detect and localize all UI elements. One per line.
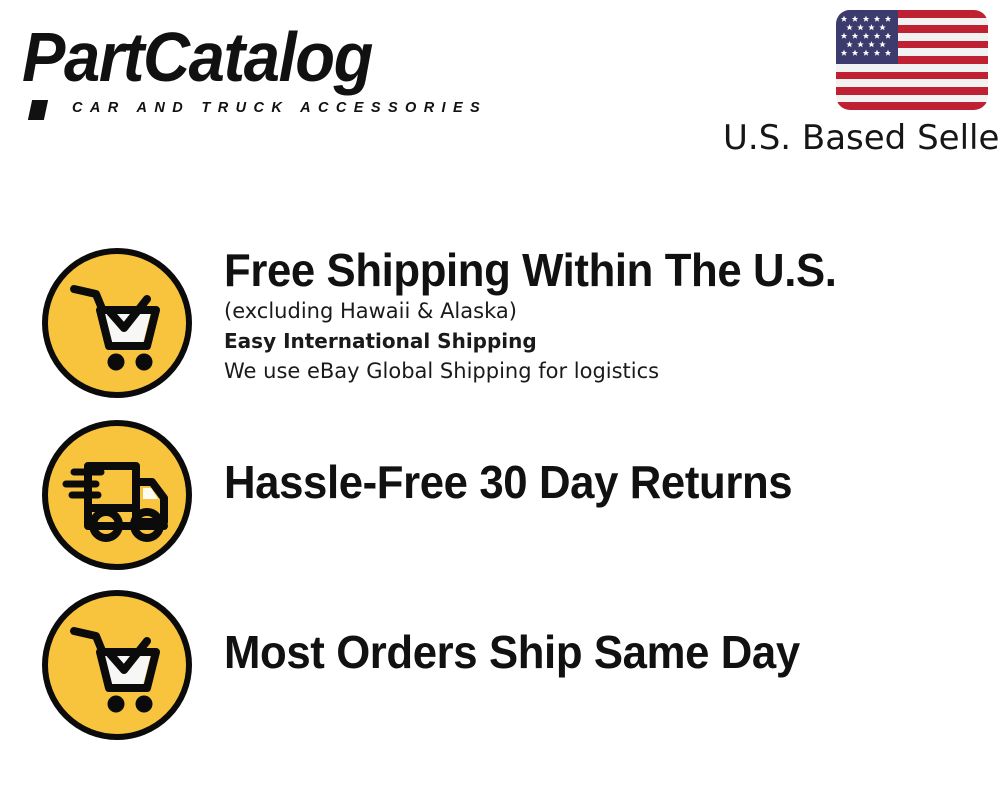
flag-stripe bbox=[836, 72, 988, 80]
flag-stripe bbox=[836, 64, 988, 72]
flag-stars-icon bbox=[836, 10, 898, 64]
feature-title: Hassle-Free 30 Day Returns bbox=[224, 456, 927, 508]
page-header: PartCatalog CAR AND TRUCK ACCESSORIES bbox=[0, 0, 1000, 175]
feature-row: Free Shipping Within The U.S. (excluding… bbox=[0, 240, 1000, 410]
flag-stripe bbox=[836, 95, 988, 103]
shopping-cart-check-icon bbox=[42, 248, 192, 398]
feature-row: Most Orders Ship Same Day bbox=[0, 582, 1000, 752]
feature-subline: (excluding Hawaii & Alaska) bbox=[224, 296, 964, 326]
brand-tagline: CAR AND TRUCK ACCESSORIES bbox=[72, 100, 487, 116]
brand-logo: PartCatalog CAR AND TRUCK ACCESSORIES bbox=[22, 18, 492, 113]
brand-wordmark: PartCatalog bbox=[22, 18, 372, 96]
feature-title: Most Orders Ship Same Day bbox=[224, 626, 927, 678]
us-based-seller-label: U.S. Based Seller bbox=[723, 118, 989, 158]
shopping-cart-check-icon bbox=[42, 590, 192, 740]
flag-stripe bbox=[836, 79, 988, 87]
feature-title: Free Shipping Within The U.S. bbox=[224, 244, 927, 296]
flag-stripe bbox=[836, 87, 988, 95]
us-flag-icon bbox=[836, 10, 988, 110]
feature-subline: We use eBay Global Shipping for logistic… bbox=[224, 356, 964, 386]
feature-text-block: Free Shipping Within The U.S. (excluding… bbox=[224, 244, 964, 386]
feature-subline: Easy International Shipping bbox=[224, 326, 964, 356]
feature-text-block: Most Orders Ship Same Day bbox=[224, 626, 964, 678]
cart-check-glyph bbox=[48, 596, 186, 734]
feature-row: Hassle-Free 30 Day Returns bbox=[0, 412, 1000, 582]
truck-glyph bbox=[48, 426, 186, 564]
flag-canton bbox=[836, 10, 898, 64]
feature-text-block: Hassle-Free 30 Day Returns bbox=[224, 456, 964, 508]
logo-accent-mark bbox=[28, 100, 48, 120]
delivery-truck-icon bbox=[42, 420, 192, 570]
flag-stripe bbox=[836, 102, 988, 110]
cart-check-glyph bbox=[48, 254, 186, 392]
